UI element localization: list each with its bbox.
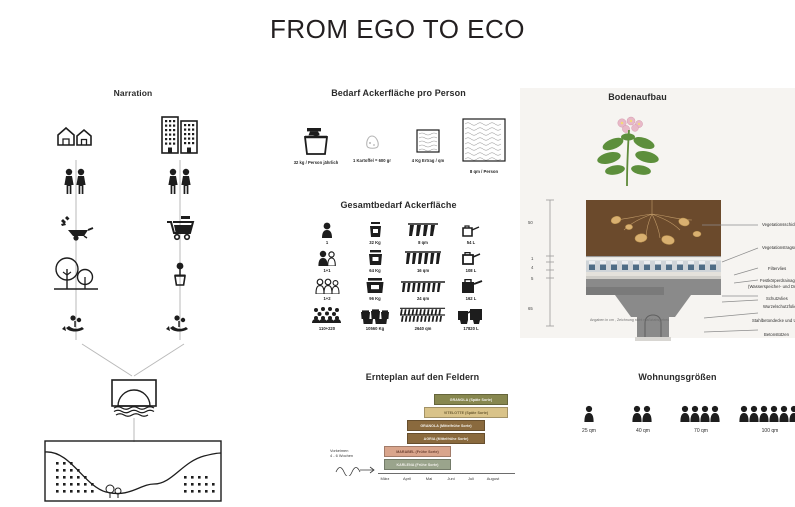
- ernte-month-2: Mai: [418, 476, 440, 481]
- ernte-axis: [378, 473, 515, 474]
- cell-area-1: 16 qm: [400, 250, 446, 273]
- ernte-bar-5: KARLENA (Frühe Sorte): [384, 459, 451, 470]
- narration-item-cart: [130, 204, 230, 250]
- cell-weight-1: 64 Kg: [352, 250, 398, 273]
- bedarf-item-2: 4 Kg Ertrag / qm: [400, 128, 456, 164]
- label-water-1: 108 L: [448, 268, 494, 273]
- scale-label-4: 65: [528, 306, 533, 311]
- cell-water-3: 17820 L: [448, 306, 494, 331]
- cell-persons-0: 1: [304, 222, 350, 245]
- watering-can-1-icon: [448, 222, 494, 238]
- sack-small-icon: [352, 222, 398, 238]
- scale-label-3: 5: [531, 276, 533, 281]
- ernte-month-1: April: [396, 476, 418, 481]
- trees-icon: [48, 255, 104, 297]
- bedarf-items: 32 kg / Person jährlich 1 Kartoffel = 60…: [286, 120, 511, 176]
- bodenaufbau-title: Bodenaufbau: [520, 92, 755, 102]
- soil-concrete-beam: [586, 287, 664, 295]
- wohn-label-1: 40 qm: [614, 428, 672, 434]
- vorkeimen-line1: Vorkeimen: [330, 448, 348, 453]
- ernte-bar-1: VITELOTTE (Späte Sorte): [424, 407, 508, 418]
- label-area-0: 8 qm: [400, 240, 446, 245]
- vorkeimen-line2: 4 - 6 Wochen: [330, 453, 353, 458]
- soil-layer-label-7: Stahlbetondecke und Unterzug: [752, 318, 795, 324]
- field-square-large-icon: [462, 118, 506, 162]
- ernteplan-chart: GRANOLA (Späte Sorte) VITELOTTE (Späte S…: [330, 390, 515, 475]
- cell-weight-3: 10560 Kg: [352, 306, 398, 331]
- ernte-month-0: März: [374, 476, 396, 481]
- page-title: FROM EGO TO ECO: [0, 14, 795, 45]
- label-area-1: 16 qm: [400, 268, 446, 273]
- wohn-item-3: 100 qm: [735, 402, 795, 434]
- wohn-label-0: 25 qm: [560, 428, 618, 434]
- sack-medium-icon: [352, 250, 398, 266]
- infographic-page: FROM EGO TO ECO Narration: [0, 0, 795, 496]
- narration-item-wheelbarrow: [26, 204, 126, 250]
- shopping-cart-icon: [159, 213, 201, 241]
- city-landscape-panorama-icon: [44, 440, 222, 502]
- label-persons-0: 1: [304, 240, 350, 245]
- narration-item-trees: [26, 250, 126, 302]
- bedarf-section: Bedarf Ackerfläche pro Person 32 kg / Pe…: [286, 88, 511, 176]
- scale-label-1: 1: [531, 256, 533, 261]
- field-rows-many-icon: [400, 306, 446, 324]
- soil-scale-bar: [542, 198, 558, 328]
- soil-layer-label-8: Betonstützen: [764, 332, 789, 338]
- cell-area-0: 8 qm: [400, 222, 446, 245]
- label-water-2: 162 L: [448, 296, 494, 301]
- cell-water-0: 54 L: [448, 222, 494, 245]
- field-rows-3-icon: [400, 278, 446, 294]
- label-weight-0: 32 Kg: [352, 240, 398, 245]
- table-row: 110+220 10560 Kg: [286, 306, 511, 338]
- bedarf-item-3: 8 qm / Person: [456, 118, 512, 174]
- wheelbarrow-icon: [53, 213, 99, 241]
- soil-layer-label-1: Vegetationstragschicht: [762, 245, 795, 251]
- potato-sack-icon: [299, 126, 333, 156]
- ernte-bar-4: MARABEL (Frühe Sorte): [384, 446, 451, 457]
- bedarf-item-1: 1 Kartoffel = 600 gr: [344, 132, 400, 164]
- label-persons-1: 1+1: [304, 268, 350, 273]
- three-persons-icon: [304, 278, 350, 294]
- narration-final-panorama: [44, 440, 222, 507]
- wohn-item-0: 25 qm: [560, 402, 618, 434]
- field-rows-2-icon: [400, 250, 446, 266]
- two-persons-icon: [304, 250, 350, 266]
- wohn-item-1: 40 qm: [614, 402, 672, 434]
- potted-plant-icon: [167, 259, 193, 293]
- cell-weight-0: 32 Kg: [352, 222, 398, 245]
- bedarf-title: Bedarf Ackerfläche pro Person: [286, 88, 511, 98]
- narration-track-left: [26, 112, 126, 348]
- sack-stack-icon: [352, 306, 398, 324]
- cell-persons-1: 1+1: [304, 250, 350, 273]
- wohn-item-2: 70 qm: [672, 402, 730, 434]
- narration-item-people-right: [130, 158, 230, 204]
- wohnungsgroessen-section: Wohnungsgrößen 25 qm 40 qm 70 qm: [560, 372, 795, 462]
- bedarf-label-3: 8 qm / Person: [456, 169, 512, 174]
- person-group-1-icon: [560, 402, 618, 422]
- highrise-buildings-icon: [157, 115, 203, 155]
- ernte-month-5: August: [482, 476, 504, 481]
- vorkeimen-label: Vorkeimen 4 - 6 Wochen: [330, 448, 353, 459]
- potato-icon: [361, 132, 383, 154]
- soil-layer-label-5: Schutzvlies: [766, 296, 788, 302]
- ernteplan-section: Ernteplan auf den Feldern GRANOLA (Späte…: [330, 372, 515, 492]
- label-persons-3: 110+220: [304, 326, 350, 331]
- gesamtbedarf-section: Gesamtbedarf Ackerfläche 1 32 Kg: [286, 200, 511, 338]
- person-group-2-icon: [614, 402, 672, 422]
- ernteplan-title: Ernteplan auf den Feldern: [330, 372, 515, 382]
- house-pair-icon: [54, 123, 98, 147]
- ernte-month-4: Juli: [460, 476, 482, 481]
- soil-note: Angaben in cm , Zeichnung nicht maßstabs…: [590, 318, 669, 322]
- wohn-label-3: 100 qm: [735, 428, 795, 434]
- bedarf-label-0: 32 kg / Person jährlich: [288, 161, 344, 166]
- vorkeimen-wave-arrow-icon: [334, 462, 378, 476]
- field-square-small-icon: [415, 128, 441, 154]
- hand-plant-icon: [162, 313, 198, 337]
- narration-section: Narration: [18, 88, 248, 488]
- narration-converge-lines: [58, 340, 208, 380]
- bedarf-label-1: 1 Kartoffel = 600 gr: [344, 159, 400, 164]
- wohnungsgroessen-title: Wohnungsgrößen: [560, 372, 795, 382]
- label-area-2: 24 qm: [400, 296, 446, 301]
- table-row: 1+2 96 Kg 24 qm: [286, 278, 511, 306]
- label-weight-1: 64 Kg: [352, 268, 398, 273]
- gesamtbedarf-table: 1 32 Kg 8 qm: [286, 222, 511, 338]
- soil-layer-label-6: Wurzelschutzfolie: [763, 304, 795, 310]
- table-row: 1+1 64 Kg 16 qm: [286, 250, 511, 278]
- narration-item-houses: [26, 112, 126, 158]
- cell-water-1: 108 L: [448, 250, 494, 273]
- watering-can-3-icon: [448, 278, 494, 294]
- cell-weight-2: 96 Kg: [352, 278, 398, 301]
- narration-item-people-left: [26, 158, 126, 204]
- bedarf-item-0: 32 kg / Person jährlich: [288, 126, 344, 166]
- label-water-0: 54 L: [448, 240, 494, 245]
- scale-label-2: 4: [531, 265, 533, 270]
- narration-item-potted-plant: [130, 250, 230, 302]
- person-group-6-icon: [735, 402, 795, 422]
- table-row: 1 32 Kg 8 qm: [286, 222, 511, 250]
- ernte-bar-2: GRANOLA (Mittelfrühe Sorte): [407, 420, 485, 431]
- label-water-3: 17820 L: [448, 326, 494, 331]
- ernte-bar-0: GRANOLA (Späte Sorte): [434, 394, 508, 405]
- water-tank-icon: [448, 306, 494, 324]
- two-people-icon: [56, 167, 96, 195]
- bedarf-label-2: 4 Kg Ertrag / qm: [400, 159, 456, 164]
- crowd-icon: [304, 306, 350, 324]
- label-weight-3: 10560 Kg: [352, 326, 398, 331]
- label-weight-2: 96 Kg: [352, 296, 398, 301]
- hand-plant-icon: [58, 313, 94, 337]
- bodenaufbau-figure: 50 1 4 5 65: [520, 110, 795, 340]
- scale-label-0: 50: [528, 220, 533, 225]
- soil-layer-label-3: Festkörperdrainage: [760, 278, 795, 284]
- potato-plant-icon: [582, 112, 674, 204]
- sack-large-icon: [352, 278, 398, 294]
- framed-landscape-icon: [104, 378, 164, 418]
- cell-persons-2: 1+2: [304, 278, 350, 301]
- soil-layer-label-4: (Wasserspeicher- und Dränschicht): [748, 284, 795, 290]
- narration-track-right: [130, 112, 230, 348]
- ernte-bar-3: AGRIA (Mittelfrühe Sorte): [407, 433, 485, 444]
- soil-layer-label-2: Filtervlies: [768, 266, 786, 272]
- ernte-month-3: Juni: [440, 476, 462, 481]
- person-group-4-icon: [672, 402, 730, 422]
- wohn-label-2: 70 qm: [672, 428, 730, 434]
- gesamtbedarf-title: Gesamtbedarf Ackerfläche: [286, 200, 511, 210]
- narration-frame-landscape: [104, 378, 164, 423]
- two-people-icon: [160, 167, 200, 195]
- soil-layer-label-0: Vegetationsschicht: [762, 222, 795, 228]
- cell-water-2: 162 L: [448, 278, 494, 301]
- label-persons-2: 1+2: [304, 296, 350, 301]
- one-person-icon: [304, 222, 350, 238]
- narration-connector-bottom: [134, 418, 135, 442]
- watering-can-2-icon: [448, 250, 494, 266]
- field-rows-1-icon: [400, 222, 446, 238]
- narration-title: Narration: [18, 88, 248, 98]
- label-area-3: 2640 qm: [400, 326, 446, 331]
- cell-area-2: 24 qm: [400, 278, 446, 301]
- narration-item-buildings: [130, 112, 230, 158]
- cell-area-3: 2640 qm: [400, 306, 446, 331]
- cell-persons-3: 110+220: [304, 306, 350, 331]
